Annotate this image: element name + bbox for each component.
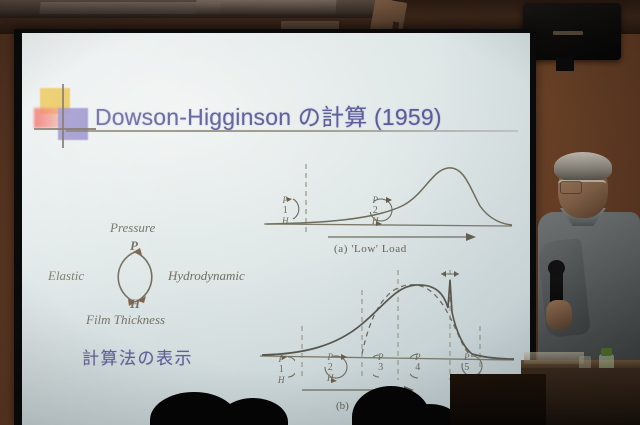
cycle-label-pressure: Pressure — [110, 220, 155, 236]
cycle-label-hydrodynamic: Hydrodynamic — [168, 268, 245, 284]
slide-logo — [34, 84, 96, 148]
foreground-dark-object — [450, 374, 546, 425]
title-underline-rule — [66, 130, 518, 132]
slide-title: Dowson-Higginson の計算 (1959) — [95, 98, 442, 132]
figure-a-caption: (a) 'Low' Load — [334, 243, 407, 255]
presenter-glasses-lens — [560, 181, 582, 194]
figure-b-marker-5: P 5 — [464, 353, 470, 374]
cycle-diagram: Pressure P Elastic Hydrodynamic H Film T… — [48, 220, 268, 330]
microphone-head-icon — [548, 260, 565, 276]
wall-speaker — [523, 3, 621, 60]
speaker-mount-stem — [556, 57, 574, 71]
lecture-photo-scene: Dowson-Higginson の計算 (1959) Pressure P E… — [0, 0, 640, 425]
presenter-hair — [554, 152, 612, 182]
slide-japanese-caption: 計算法の表示 — [82, 344, 193, 369]
figure-b-caption: (b) — [336, 400, 349, 412]
logo-vertical-line — [62, 84, 64, 148]
figure-a-marker-2: P 2 H — [372, 196, 379, 226]
podium-papers — [524, 352, 584, 364]
ceiling-strip — [0, 0, 392, 18]
figure-a-direction-arrow-icon — [328, 232, 476, 242]
speaker-badge — [553, 31, 583, 35]
cycle-label-film-thickness: Film Thickness — [86, 312, 165, 328]
figure-b-marker-1: P 1 H — [278, 355, 285, 385]
figure-a-marker-1: P 1 H — [282, 196, 289, 226]
ceiling-object — [39, 2, 220, 14]
water-bottle-cap — [601, 348, 612, 356]
cycle-arrows-icon — [102, 246, 168, 308]
figure-b-marker-3: P 3 — [378, 353, 384, 374]
presenter — [536, 150, 640, 380]
ceiling-object-secondary — [196, 0, 337, 14]
figure-b-marker-4: P 4 — [415, 353, 421, 374]
figure-b-marker-2: P 2 H — [327, 353, 334, 383]
cycle-label-elastic: Elastic — [48, 268, 84, 284]
presenter-hand — [546, 300, 572, 330]
